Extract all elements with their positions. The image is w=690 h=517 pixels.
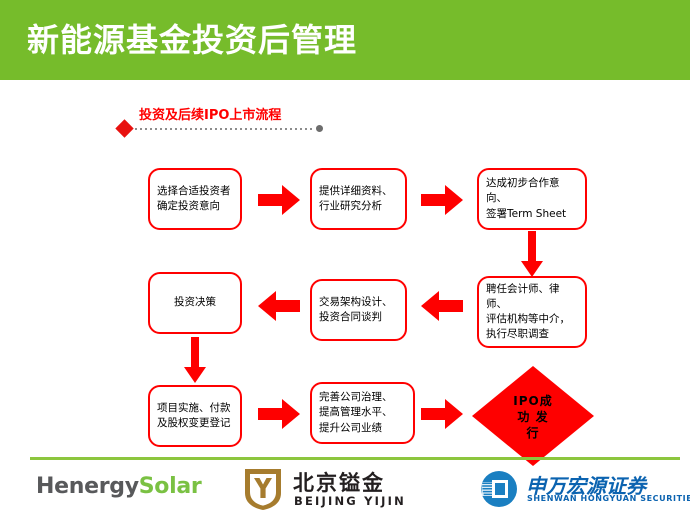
arrow-left-icon [258, 291, 300, 321]
flow-step-box-4[interactable]: 聘任会计师、律师、 评估机构等中介， 执行尽职调查 [477, 276, 587, 348]
flow-step-box-1[interactable]: 选择合适投资者 确定投资意向 [148, 168, 242, 230]
flow-step-line: 确定投资意向 [157, 199, 233, 214]
ipo-result-diamond[interactable]: IPO成 功 发 行 [472, 366, 594, 466]
logo-beijing-yijin: 北京镒金 BEIJING YIJIN [243, 465, 458, 513]
arrow-right-icon [421, 399, 463, 429]
title-banner: 新能源基金投资后管理 [0, 0, 690, 80]
ipo-result-label: IPO成 功 发 行 [500, 393, 566, 442]
arrow-right-icon [421, 185, 463, 215]
flow-step-line: 交易架构设计、 [319, 295, 398, 310]
logo-shenwan-hongyuan: 申万宏源证券 SHENWAN HONGYUAN SECURITIES [480, 468, 680, 512]
flow-step-line: 投资决策 [157, 295, 233, 310]
arrow-left-icon [421, 291, 463, 321]
flow-step-box-3[interactable]: 达成初步合作意向、 签署Term Sheet [477, 168, 587, 230]
flow-step-line: 选择合适投资者 [157, 184, 233, 199]
arrow-down-icon [521, 231, 543, 277]
flow-step-line: 提高管理水平、 [319, 405, 406, 420]
arrow-right-icon [258, 399, 300, 429]
ipo-result-line: 功 发 [500, 409, 566, 425]
flow-step-line: 达成初步合作意向、 [486, 176, 578, 206]
dot-end-icon [316, 125, 323, 132]
flow-step-box-5[interactable]: 交易架构设计、 投资合同谈判 [310, 279, 407, 341]
flow-step-line: 执行尽职调查 [486, 327, 578, 342]
arrow-down-icon [184, 337, 206, 383]
flow-step-line: 行业研究分析 [319, 199, 398, 214]
ipo-result-line: 行 [500, 425, 566, 441]
shield-y-icon [243, 467, 283, 511]
flow-step-line: 签署Term Sheet [486, 207, 578, 222]
flow-step-line: 项目实施、付款 [157, 401, 233, 416]
logo-henergy-solar: HenergySolar [36, 474, 201, 499]
ipo-result-line: IPO成 [500, 393, 566, 409]
flow-step-line: 提升公司业绩 [319, 421, 406, 436]
flow-step-line: 完善公司治理、 [319, 390, 406, 405]
logo-henergy-secondary: Solar [139, 474, 202, 499]
footer-divider [30, 457, 680, 460]
flow-step-line: 评估机构等中介， [486, 312, 578, 327]
shenwan-mark-icon [480, 470, 518, 508]
flow-step-box-2[interactable]: 提供详细资料、 行业研究分析 [310, 168, 407, 230]
flow-step-box-6[interactable]: 投资决策 [148, 272, 242, 334]
flow-step-box-7[interactable]: 项目实施、付款 及股权变更登记 [148, 385, 242, 447]
flow-step-line: 及股权变更登记 [157, 416, 233, 431]
dotted-line-icon [135, 128, 313, 130]
flow-step-box-8[interactable]: 完善公司治理、 提高管理水平、 提升公司业绩 [310, 382, 415, 444]
flow-step-line: 聘任会计师、律师、 [486, 282, 578, 312]
logo-yijin-cn: 北京镒金 [293, 467, 385, 497]
diamond-bullet-icon [115, 119, 133, 137]
flow-step-line: 投资合同谈判 [319, 310, 398, 325]
logo-yijin-en: BEIJING YIJIN [294, 494, 406, 508]
logo-henergy-primary: Henergy [36, 474, 139, 499]
arrow-right-icon [258, 185, 300, 215]
flow-step-line: 提供详细资料、 [319, 184, 398, 199]
page-title: 新能源基金投资后管理 [27, 24, 357, 56]
subtitle-rule [118, 121, 324, 135]
logo-shenwan-en: SHENWAN HONGYUAN SECURITIES [527, 494, 690, 503]
